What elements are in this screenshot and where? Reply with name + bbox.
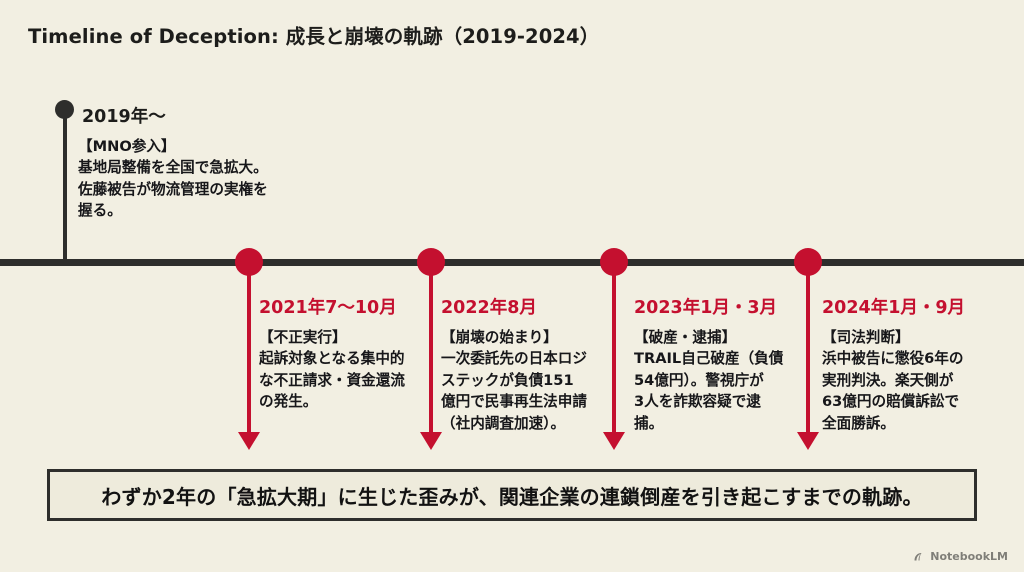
timeline-connector-2019 [63,108,67,263]
summary-text: わずか2年の「急拡大期」に生じた歪みが、関連企業の連鎖倒産を引き起こすまでの軌跡… [101,481,922,510]
timeline-marker-dot-2022 [417,248,445,276]
event-date-2019: 2019年〜 [82,103,166,128]
event-date-2024: 2024年1月・9月 [822,294,965,319]
timeline-marker-dot-2021 [235,248,263,276]
event-date-2021: 2021年7〜10月 [259,294,397,319]
event-date-2022: 2022年8月 [441,294,537,319]
notebooklm-logo-icon [913,551,925,563]
notebooklm-watermark: NotebookLM [913,550,1008,563]
summary-callout-box: わずか2年の「急拡大期」に生じた歪みが、関連企業の連鎖倒産を引き起こすまでの軌跡… [47,469,977,521]
timeline-arrowhead-2023 [603,432,625,450]
timeline-connector-2024 [806,262,810,437]
timeline-connector-2023 [612,262,616,437]
timeline-arrowhead-2021 [238,432,260,450]
event-body-2019: 【MNO参入】 基地局整備を全国で急拡大。 佐藤被告が物流管理の実権を 握る。 [78,136,328,222]
timeline-marker-dot-2023 [600,248,628,276]
timeline-connector-2021 [247,262,251,437]
event-date-2023: 2023年1月・3月 [634,294,777,319]
timeline-axis [0,259,1024,266]
timeline-connector-2022 [429,262,433,437]
timeline-marker-dot-2024 [794,248,822,276]
event-body-2022: 【崩壊の始まり】 一次委託先の日本ロジ ステックが負債151 億円で民事再生法申… [441,327,616,434]
event-body-2021: 【不正実行】 起訴対象となる集中的 な不正請求・資金還流 の発生。 [259,327,434,413]
watermark-label: NotebookLM [930,550,1008,563]
page-title: Timeline of Deception: 成長と崩壊の軌跡（2019-202… [28,20,599,49]
timeline-arrowhead-2022 [420,432,442,450]
event-body-2024: 【司法判断】 浜中被告に懲役6年の 実刑判決。楽天側が 63億円の賠償訴訟で 全… [822,327,1002,434]
timeline-arrowhead-2024 [797,432,819,450]
timeline-marker-dot-2019 [55,100,74,119]
timeline-infographic: Timeline of Deception: 成長と崩壊の軌跡（2019-202… [0,0,1024,572]
event-body-2023: 【破産・逮捕】 TRAIL自己破産（負債 54億円）。警視庁が 3人を詐欺容疑で… [634,327,809,434]
